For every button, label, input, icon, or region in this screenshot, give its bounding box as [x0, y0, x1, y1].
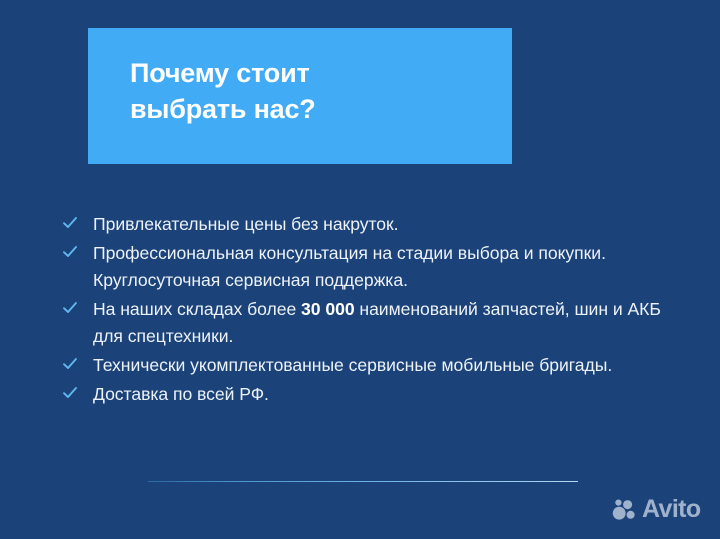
- check-icon: [62, 385, 78, 401]
- check-icon: [62, 356, 78, 372]
- avito-dots-icon: [612, 499, 638, 521]
- list-item-label: Технически укомплектованные сервисные мо…: [93, 355, 612, 375]
- list-item-label: Доставка по всей РФ.: [93, 384, 269, 404]
- check-icon: [62, 244, 78, 260]
- list-item-label: Профессиональная консультация на стадии …: [93, 243, 606, 290]
- list-item-label: На наших складах более 30 000 наименован…: [93, 299, 661, 346]
- list-item: Доставка по всей РФ.: [62, 381, 662, 408]
- list-item-prefix: На наших складах более: [93, 299, 301, 319]
- page-title: Почему стоит выбрать нас?: [130, 56, 512, 127]
- avito-watermark: Avito: [612, 497, 701, 522]
- divider: [148, 481, 578, 482]
- benefits-list: Привлекательные цены без накруток. Профе…: [62, 211, 662, 410]
- list-item: На наших складах более 30 000 наименован…: [62, 296, 662, 350]
- avito-wordmark: Avito: [642, 497, 701, 522]
- slide-canvas: Почему стоит выбрать нас? Привлекательны…: [0, 0, 720, 539]
- list-item: Профессиональная консультация на стадии …: [62, 240, 662, 294]
- inventory-count: 30 000: [301, 299, 355, 319]
- check-icon: [62, 215, 78, 231]
- title-banner: Почему стоит выбрать нас?: [88, 28, 512, 164]
- list-item: Привлекательные цены без накруток.: [62, 211, 662, 238]
- list-item-label: Привлекательные цены без накруток.: [93, 214, 399, 234]
- list-item: Технически укомплектованные сервисные мо…: [62, 352, 662, 379]
- check-icon: [62, 300, 78, 316]
